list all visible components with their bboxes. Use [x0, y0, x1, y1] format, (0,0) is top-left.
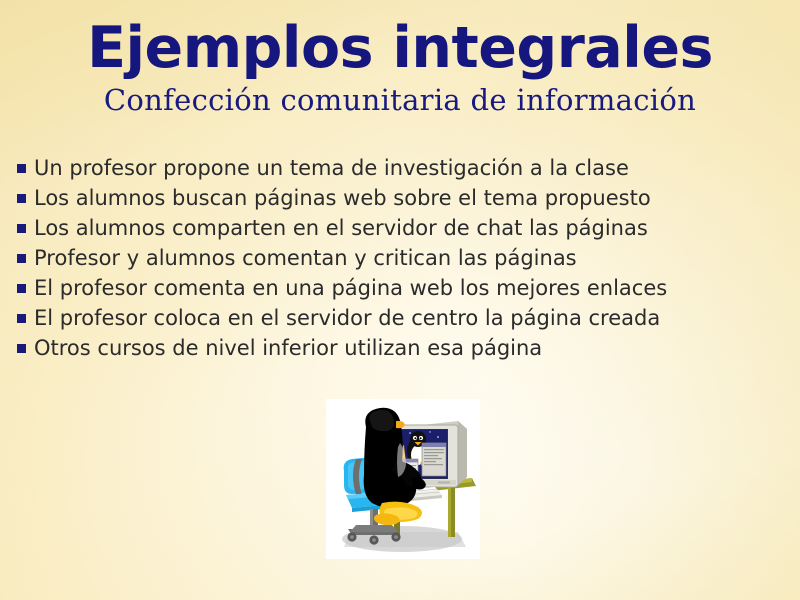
square-bullet-icon [17, 284, 26, 293]
presentation-slide: Ejemplos integrales Confección comunitar… [0, 0, 800, 600]
list-item-label: Un profesor propone un tema de investiga… [34, 155, 629, 182]
list-item: Otros cursos de nivel inferior utilizan … [14, 335, 784, 363]
square-bullet-icon [17, 224, 26, 233]
list-item: El profesor coloca en el servidor de cen… [14, 305, 784, 333]
slide-title: Ejemplos integrales [0, 18, 800, 80]
slide-subtitle: Confección comunitaria de información [0, 85, 800, 117]
list-item-label: Los alumnos comparten en el servidor de … [34, 215, 648, 242]
square-bullet-icon [17, 314, 26, 323]
square-bullet-icon [17, 164, 26, 173]
list-item-label: Los alumnos buscan páginas web sobre el … [34, 185, 651, 212]
list-item-label: El profesor coloca en el servidor de cen… [34, 305, 660, 332]
title-block: Ejemplos integrales Confección comunitar… [0, 18, 800, 116]
list-item: El profesor comenta en una página web lo… [14, 275, 784, 303]
square-bullet-icon [17, 254, 26, 263]
tux-penguin-at-computer-illustration [326, 399, 480, 559]
list-item-label: Profesor y alumnos comentan y critican l… [34, 245, 577, 272]
list-item: Un profesor propone un tema de investiga… [14, 155, 784, 183]
list-item: Los alumnos comparten en el servidor de … [14, 215, 784, 243]
list-item-label: El profesor comenta en una página web lo… [34, 275, 667, 302]
square-bullet-icon [17, 194, 26, 203]
list-item-label: Otros cursos de nivel inferior utilizan … [34, 335, 542, 362]
bullet-list: Un profesor propone un tema de investiga… [14, 155, 784, 365]
list-item: Profesor y alumnos comentan y critican l… [14, 245, 784, 273]
square-bullet-icon [17, 344, 26, 353]
list-item: Los alumnos buscan páginas web sobre el … [14, 185, 784, 213]
